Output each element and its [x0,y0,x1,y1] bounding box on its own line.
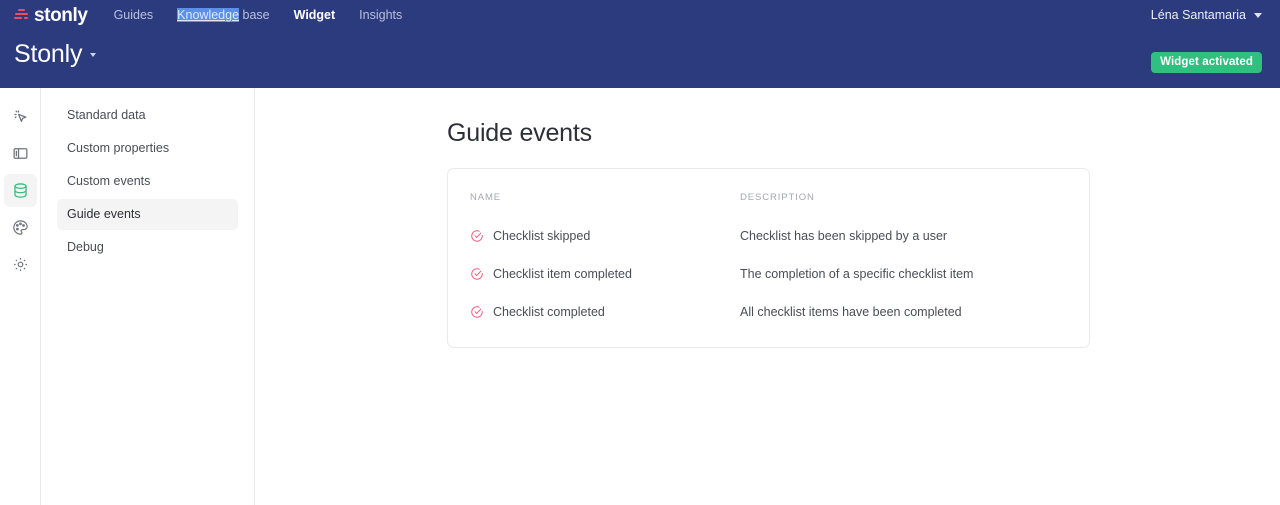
event-name: Checklist completed [493,305,605,319]
layout-columns-icon [11,144,30,163]
check-circle-icon [470,305,484,319]
cell-description: Checklist has been skipped by a user [718,217,1089,255]
main-content: Guide events NAME DESCRIPTION [255,88,1280,505]
cell-name: Checklist completed [448,293,718,331]
top-navigation-bar: stonly Guides Knowledge base Widget Insi… [0,0,1280,88]
primary-nav-row: stonly Guides Knowledge base Widget Insi… [0,0,1280,30]
status-badge[interactable]: Widget activated [1151,52,1262,73]
column-header-name: NAME [448,169,718,217]
nav-links: Guides Knowledge base Widget Insights [114,8,403,22]
nav-item-guides[interactable]: Guides [114,8,154,22]
chevron-down-icon [1254,13,1262,18]
logo-text: stonly [34,6,88,25]
guide-events-card: NAME DESCRIPTION [447,168,1090,348]
gear-icon [11,255,30,274]
icon-sidebar [0,88,41,505]
stonly-logo[interactable]: stonly [14,6,88,25]
magic-cursor-icon [11,107,30,126]
sidebar-item-debug[interactable]: Debug [57,232,238,263]
sidebar-item-custom-events[interactable]: Custom events [57,166,238,197]
guide-events-table: NAME DESCRIPTION [448,169,1089,331]
user-menu[interactable]: Léna Santamaria [1151,0,1262,30]
database-icon [11,181,30,200]
cell-description: The completion of a specific checklist i… [718,255,1089,293]
cell-description: All checklist items have been completed [718,293,1089,331]
palette-icon [11,218,30,237]
nav-item-insights[interactable]: Insights [359,8,402,22]
table-body: Checklist skipped Checklist has been ski… [448,217,1089,331]
event-name: Checklist skipped [493,229,590,243]
table-header-row: NAME DESCRIPTION [448,169,1089,217]
nav-item-knowledge-base[interactable]: Knowledge base [177,8,269,22]
cell-name: Checklist skipped [448,217,718,255]
cell-name: Checklist item completed [448,255,718,293]
check-circle-icon [470,229,484,243]
sidebar-item-standard-data[interactable]: Standard data [57,100,238,131]
settings-sidebar: Standard data Custom properties Custom e… [41,88,255,505]
sidebar-icon-magic-cursor[interactable] [4,100,37,133]
table-row[interactable]: Checklist skipped Checklist has been ski… [448,217,1089,255]
sidebar-icon-data[interactable] [4,174,37,207]
chevron-down-icon [90,53,96,57]
page-title: Guide events [447,118,1090,148]
sidebar-icon-appearance[interactable] [4,211,37,244]
user-name: Léna Santamaria [1151,8,1246,22]
nav-item-widget[interactable]: Widget [294,8,336,22]
sidebar-icon-settings[interactable] [4,248,37,281]
sidebar-icon-layout[interactable] [4,137,37,170]
column-header-description: DESCRIPTION [718,169,1089,217]
workspace-selector[interactable]: Stonly [14,42,96,67]
table-row[interactable]: Checklist completed All checklist items … [448,293,1089,331]
app-body: Standard data Custom properties Custom e… [0,88,1280,505]
nav-item-knowledge-base-selected-text: Knowledge [177,8,239,22]
sidebar-item-guide-events[interactable]: Guide events [57,199,238,230]
nav-item-knowledge-base-rest: base [239,8,270,22]
event-name: Checklist item completed [493,267,632,281]
stonly-logo-icon [14,8,29,23]
table-row[interactable]: Checklist item completed The completion … [448,255,1089,293]
sidebar-item-custom-properties[interactable]: Custom properties [57,133,238,164]
check-circle-icon [470,267,484,281]
workspace-name: Stonly [14,42,82,67]
